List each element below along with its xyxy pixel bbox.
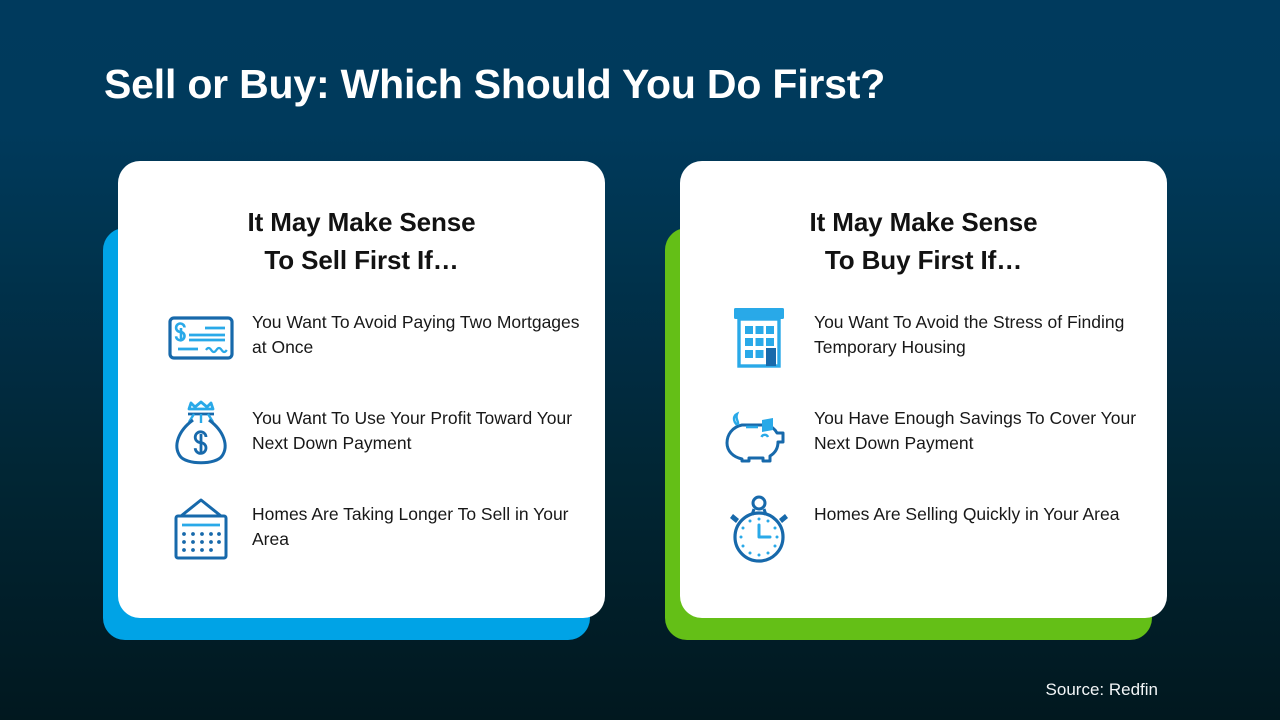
card-title-line2: To Buy First If… [680,242,1167,280]
list-item-label: Homes Are Taking Longer To Sell in Your … [240,494,591,553]
list-item-label: You Want To Avoid Paying Two Mortgages a… [240,302,591,361]
list-item: You Want To Avoid Paying Two Mortgages a… [162,302,591,374]
list-item-label: Homes Are Selling Quickly in Your Area [798,494,1153,527]
card-surface: It May Make Sense To Sell First If… [118,161,605,618]
piggy-bank-icon [720,398,798,470]
stopwatch-icon [720,494,798,566]
page-title: Sell or Buy: Which Should You Do First? [104,62,1104,107]
card-title-buy: It May Make Sense To Buy First If… [680,204,1167,280]
calendar-house-icon [162,494,240,566]
money-bag-icon [162,398,240,470]
card-title-line1: It May Make Sense [680,204,1167,242]
card-title-sell: It May Make Sense To Sell First If… [118,204,605,280]
benefit-list-buy: You Want To Avoid the Stress of Finding … [680,302,1167,566]
card-title-line1: It May Make Sense [118,204,605,242]
card-surface: It May Make Sense To Buy First If… [680,161,1167,618]
list-item-label: You Want To Use Your Profit Toward Your … [240,398,591,457]
building-icon [720,302,798,374]
list-item: You Want To Use Your Profit Toward Your … [162,398,591,470]
benefit-list-sell: You Want To Avoid Paying Two Mortgages a… [118,302,605,566]
list-item: You Want To Avoid the Stress of Finding … [720,302,1153,374]
list-item: Homes Are Selling Quickly in Your Area [720,494,1153,566]
source-attribution: Source: Redfin [1046,680,1158,700]
card-title-line2: To Sell First If… [118,242,605,280]
list-item: You Have Enough Savings To Cover Your Ne… [720,398,1153,470]
list-item-label: You Have Enough Savings To Cover Your Ne… [798,398,1153,457]
list-item-label: You Want To Avoid the Stress of Finding … [798,302,1153,361]
check-icon [162,302,240,374]
slide-root: Sell or Buy: Which Should You Do First? … [0,0,1280,720]
list-item: Homes Are Taking Longer To Sell in Your … [162,494,591,566]
